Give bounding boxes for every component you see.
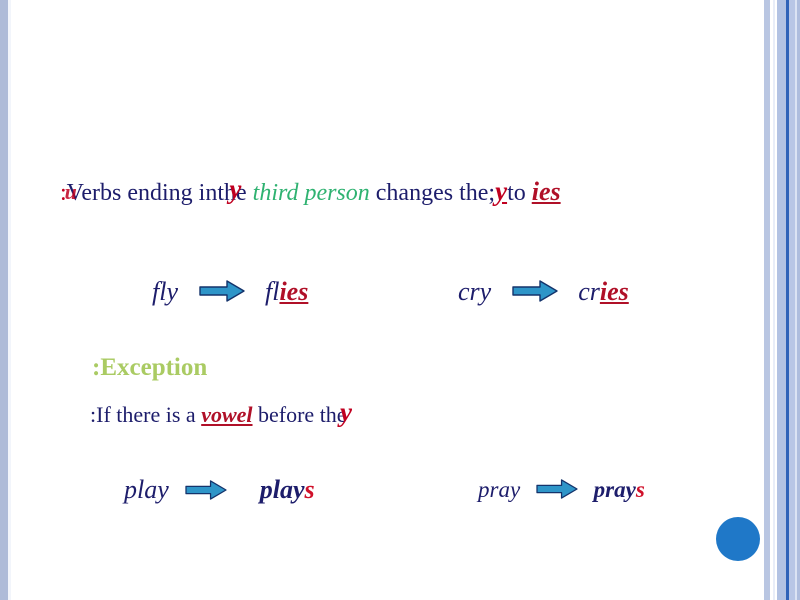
blue-circle-accent (716, 517, 760, 561)
overlay-letter-start: u (65, 179, 77, 205)
right-arrow-icon (536, 479, 578, 505)
example-stem: play (260, 475, 305, 504)
left-edge-bar (0, 0, 8, 600)
exception-heading: :Exception (92, 354, 207, 382)
example-play: play plays (124, 475, 315, 507)
the-word-group-2: before they (258, 402, 347, 428)
example-suffix: ies (600, 277, 629, 306)
stripe-3 (777, 0, 786, 600)
overlay-y-letter-2: y (340, 397, 352, 428)
exception-text-2: before the (258, 402, 347, 427)
example-base-word: play (124, 475, 169, 504)
rule-text-to: to (507, 180, 526, 206)
example-suffix: s (636, 477, 645, 502)
rule-text-1: Verbs ending in (67, 180, 218, 206)
example-stem: pray (594, 477, 636, 502)
example-stem: fl (265, 277, 279, 306)
exception-text-1: If there is a (96, 402, 196, 427)
right-arrow-icon (199, 279, 245, 309)
left-edge-highlight (8, 0, 11, 600)
vowel-highlight: vowel (201, 402, 252, 427)
rule-text-2: changes the; (376, 180, 495, 206)
rule-statement: :uVerbs ending inthey third person chang… (60, 176, 561, 207)
y-letter-highlight: y (495, 176, 507, 206)
ies-suffix-highlight: ies (532, 177, 561, 206)
slide-canvas: :uVerbs ending inthey third person chang… (0, 0, 800, 600)
example-pray: pray prays (478, 477, 645, 505)
example-fly: fly flies (152, 277, 308, 309)
stripe-1 (764, 0, 770, 600)
exception-statement: :If there is a vowel before they (90, 402, 347, 428)
example-suffix: s (305, 475, 315, 504)
example-base-word: cry (458, 277, 491, 306)
verbs-word-group: uVerbs ending in (67, 180, 218, 207)
example-cry: cry cries (458, 277, 629, 309)
right-arrow-icon (185, 477, 227, 507)
right-stripe-group (764, 0, 800, 600)
third-person-emphasis: third person (253, 180, 370, 206)
example-base-word: pray (478, 477, 520, 502)
right-arrow-icon (512, 279, 558, 309)
example-base-word: fly (152, 277, 178, 306)
stripe-2 (773, 0, 775, 600)
example-suffix: ies (279, 277, 308, 306)
overlay-y-letter-1: y (229, 174, 241, 205)
the-word-group-1: they (217, 180, 246, 207)
example-stem: cr (578, 277, 600, 306)
